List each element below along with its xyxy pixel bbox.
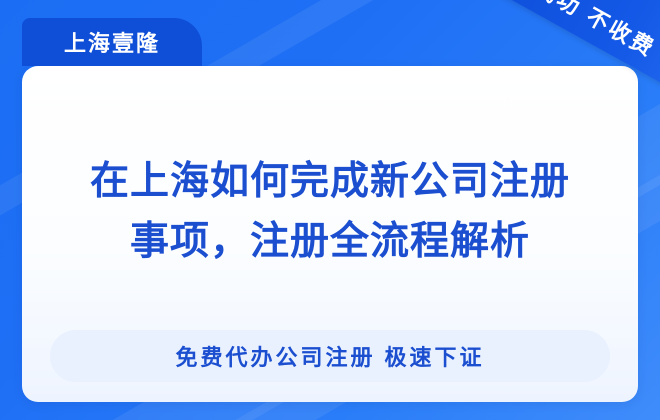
headline-line-2: 事项，注册全流程解析	[40, 212, 620, 272]
ribbon-inner: 不成功 不收费	[482, 0, 660, 72]
headline-line-1: 在上海如何完成新公司注册	[40, 152, 620, 212]
poster-container: 在上海如何完成新公司注册 事项，注册全流程解析 免费代办公司注册 极速下证 上海…	[0, 0, 660, 420]
subtitle-label: 免费代办公司注册 极速下证	[175, 340, 484, 372]
ribbon-label: 不成功 不收费	[508, 0, 660, 63]
subtitle-pill: 免费代办公司注册 极速下证	[50, 330, 610, 382]
brand-tab-label: 上海壹隆	[64, 26, 160, 58]
headline: 在上海如何完成新公司注册 事项，注册全流程解析	[22, 152, 638, 273]
brand-tab: 上海壹隆	[22, 18, 202, 66]
content-card: 在上海如何完成新公司注册 事项，注册全流程解析 免费代办公司注册 极速下证	[22, 66, 638, 402]
